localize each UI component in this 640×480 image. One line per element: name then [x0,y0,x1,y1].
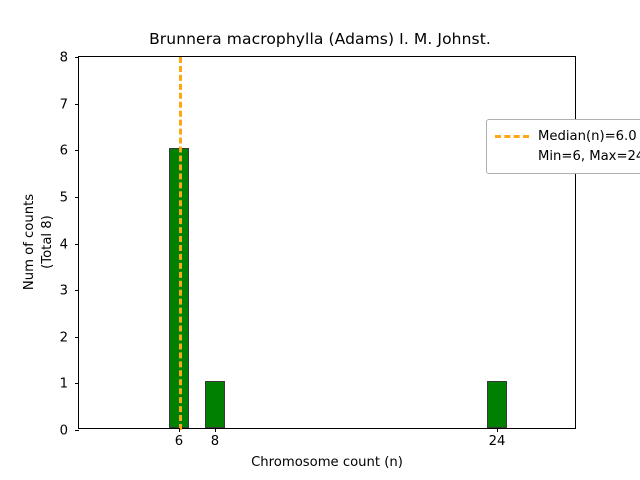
chart-figure: Brunnera macrophylla (Adams) I. M. Johns… [0,0,640,480]
bar-n8[interactable] [205,381,225,428]
xtick-mark-6 [179,428,180,432]
chart-title: Brunnera macrophylla (Adams) I. M. Johns… [0,30,640,48]
ytick-label-6: 6 [60,144,68,159]
ytick-label-2: 2 [60,330,68,345]
legend-entry-range: Min=6, Max=24 [495,146,640,166]
ytick-mark-8: 8 [75,57,79,58]
xtick-label-24: 24 [489,434,506,449]
xtick-label-6: 6 [175,434,183,449]
ytick-mark-3: 3 [75,290,79,291]
dashed-line-icon [495,135,529,138]
ytick-label-5: 5 [60,190,68,205]
plot-area: 0 1 2 3 4 5 6 7 8 6 8 24 [78,56,576,429]
ytick-label-4: 4 [60,237,68,252]
x-axis-label: Chromosome count (n) [78,455,576,470]
median-line [179,57,182,430]
legend-label-range: Min=6, Max=24 [538,149,640,164]
y-axis-label-line2: (Total 8) [39,194,57,290]
ytick-mark-1: 1 [75,383,79,384]
ytick-label-8: 8 [60,51,68,66]
ytick-label-1: 1 [60,377,68,392]
ytick-mark-5: 5 [75,197,79,198]
y-axis-label-line1: Num of counts [21,194,39,290]
ytick-mark-6: 6 [75,150,79,151]
xtick-label-8: 8 [211,434,219,449]
ytick-label-7: 7 [60,97,68,112]
chart-legend: Median(n)=6.0 Min=6, Max=24 [486,119,640,174]
ytick-label-3: 3 [60,284,68,299]
bar-n24[interactable] [487,381,507,428]
xtick-mark-8 [215,428,216,432]
legend-label-median: Median(n)=6.0 [538,129,637,144]
ytick-mark-2: 2 [75,337,79,338]
ytick-label-0: 0 [60,424,68,439]
legend-entry-median: Median(n)=6.0 [495,126,640,146]
ytick-mark-4: 4 [75,244,79,245]
ytick-mark-7: 7 [75,104,79,105]
xtick-mark-24 [497,428,498,432]
y-axis-label: Num of counts (Total 8) [21,194,57,290]
ytick-mark-0: 0 [75,430,79,431]
